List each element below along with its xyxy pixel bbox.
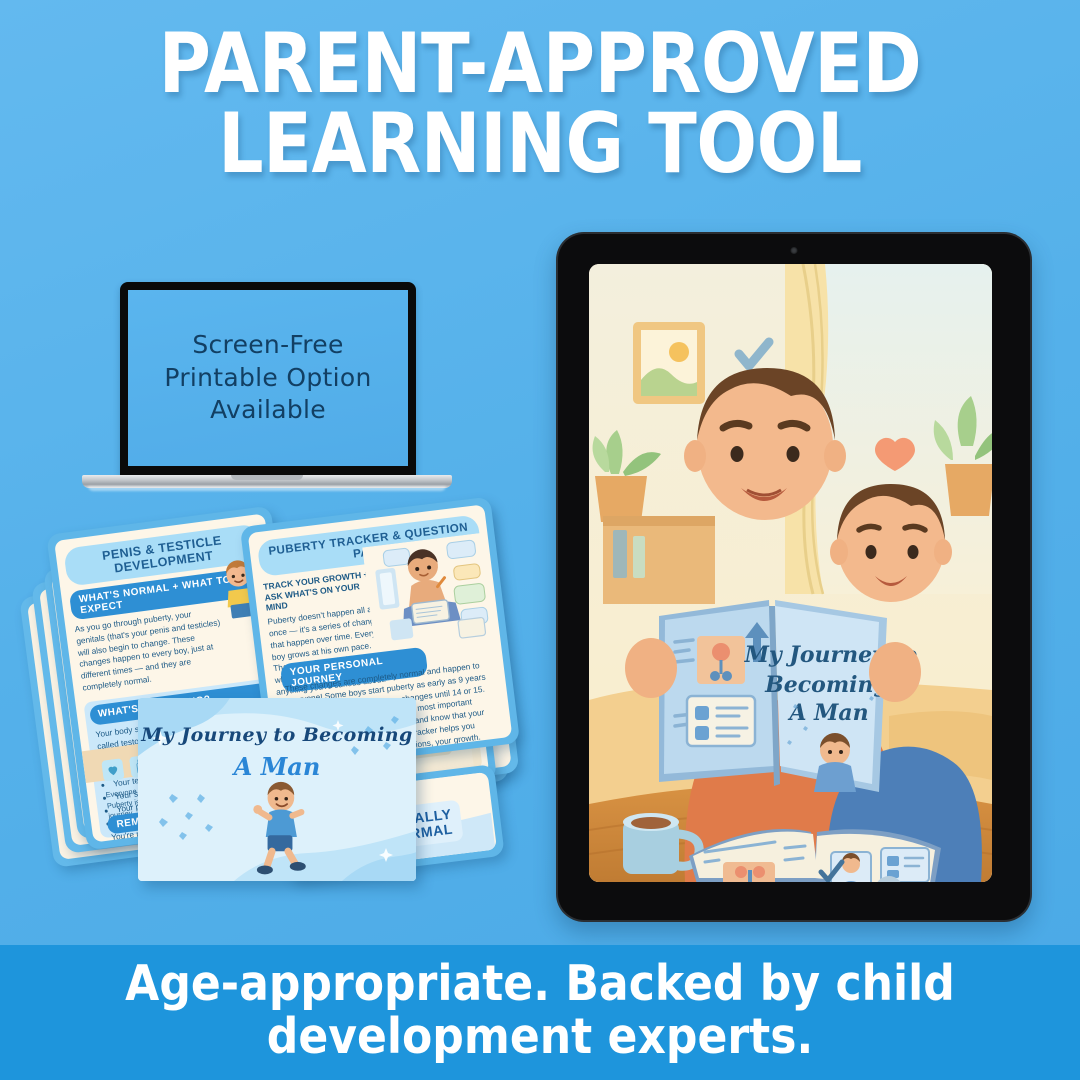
laptop-screen: Screen-Free Printable Option Available xyxy=(128,290,408,466)
book-cover-line3: A Man xyxy=(787,700,868,726)
father-and-son-reading-illustration: My Journey to Becoming A Man xyxy=(589,264,992,882)
tablet-camera-icon xyxy=(791,247,798,254)
banner-text: Age-appropriate. Backed by child develop… xyxy=(54,958,1026,1064)
laptop-foot-shadow xyxy=(88,486,446,491)
card-my-journey-cover: My Journey to Becoming A Man xyxy=(138,698,416,881)
heart-icon xyxy=(101,758,125,782)
printable-card-stack: ♪ TOTALLY NORMAL xyxy=(36,505,526,885)
tablet-mockup: My Journey to Becoming A Man xyxy=(556,232,1032,922)
laptop-screen-text: Screen-Free Printable Option Available xyxy=(164,329,371,427)
boy-writing-journal-illustration xyxy=(362,533,494,651)
laptop-mockup: Screen-Free Printable Option Available xyxy=(82,282,452,494)
tablet-screen: My Journey to Becoming A Man xyxy=(589,264,992,882)
cover-subtitle: A Man xyxy=(138,752,416,781)
cover-title: My Journey to Becoming xyxy=(138,724,416,746)
page-title: PARENT-APPROVED LEARNING TOOL xyxy=(76,24,1005,183)
bottom-banner: Age-appropriate. Backed by child develop… xyxy=(0,945,1080,1080)
running-boy-illustration xyxy=(240,780,320,878)
laptop-lid: Screen-Free Printable Option Available xyxy=(120,282,416,478)
poster-canvas: PARENT-APPROVED LEARNING TOOL Screen-Fre… xyxy=(0,0,1080,1080)
